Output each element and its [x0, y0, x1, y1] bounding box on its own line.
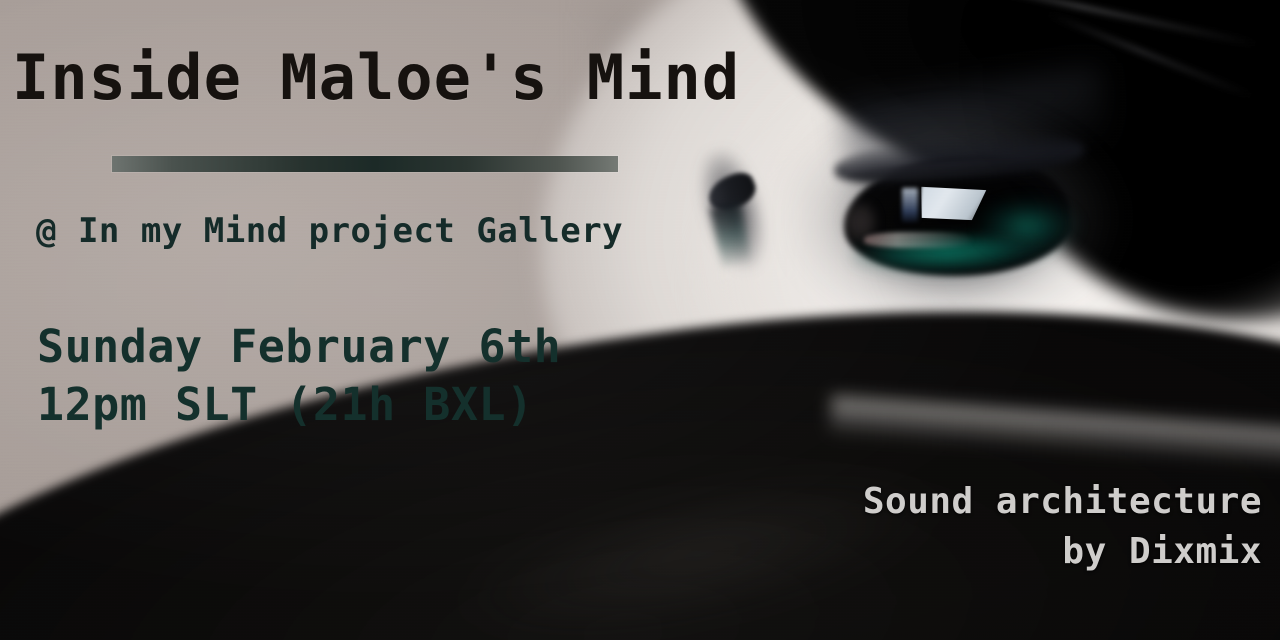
eye-inner-corner [836, 202, 876, 246]
event-time-line: 12pm SLT (21h BXL) [37, 376, 561, 434]
green-eyeshadow-rim [978, 196, 1088, 256]
sound-credit-line-1: Sound architecture [863, 477, 1262, 527]
event-datetime: Sunday February 6th 12pm SLT (21h BXL) [37, 318, 561, 434]
venue-label: @ In my Mind project Gallery [36, 211, 623, 251]
event-poster: Inside Maloe's Mind @ In my Mind project… [0, 0, 1280, 640]
event-date-line: Sunday February 6th [37, 318, 561, 376]
title-divider-bar [112, 156, 618, 172]
page-title: Inside Maloe's Mind [12, 41, 740, 114]
eye-waterline [864, 232, 974, 248]
far-eye [694, 150, 768, 282]
sound-credit: Sound architecture by Dixmix [863, 477, 1262, 577]
sound-credit-line-2: by Dixmix [863, 527, 1262, 577]
eye-catchlight-small [902, 188, 918, 222]
eye-detail [828, 140, 1096, 312]
